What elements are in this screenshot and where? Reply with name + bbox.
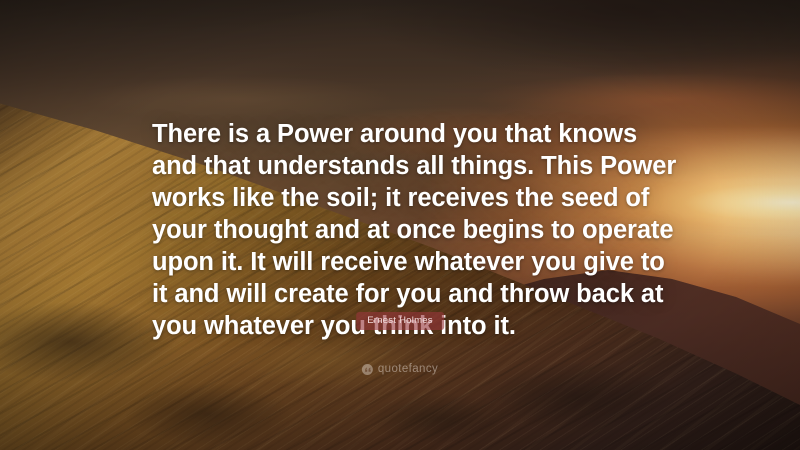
quote-badge-icon (362, 364, 373, 375)
quote-text: There is a Power around you that knows a… (152, 118, 680, 342)
quote-content: There is a Power around you that knows a… (0, 0, 800, 450)
watermark-label: quotefancy (378, 363, 438, 375)
watermark: quotefancy (362, 363, 438, 375)
quote-wallpaper: There is a Power around you that knows a… (0, 0, 800, 450)
quote-author: Ernest Holmes (356, 312, 444, 330)
